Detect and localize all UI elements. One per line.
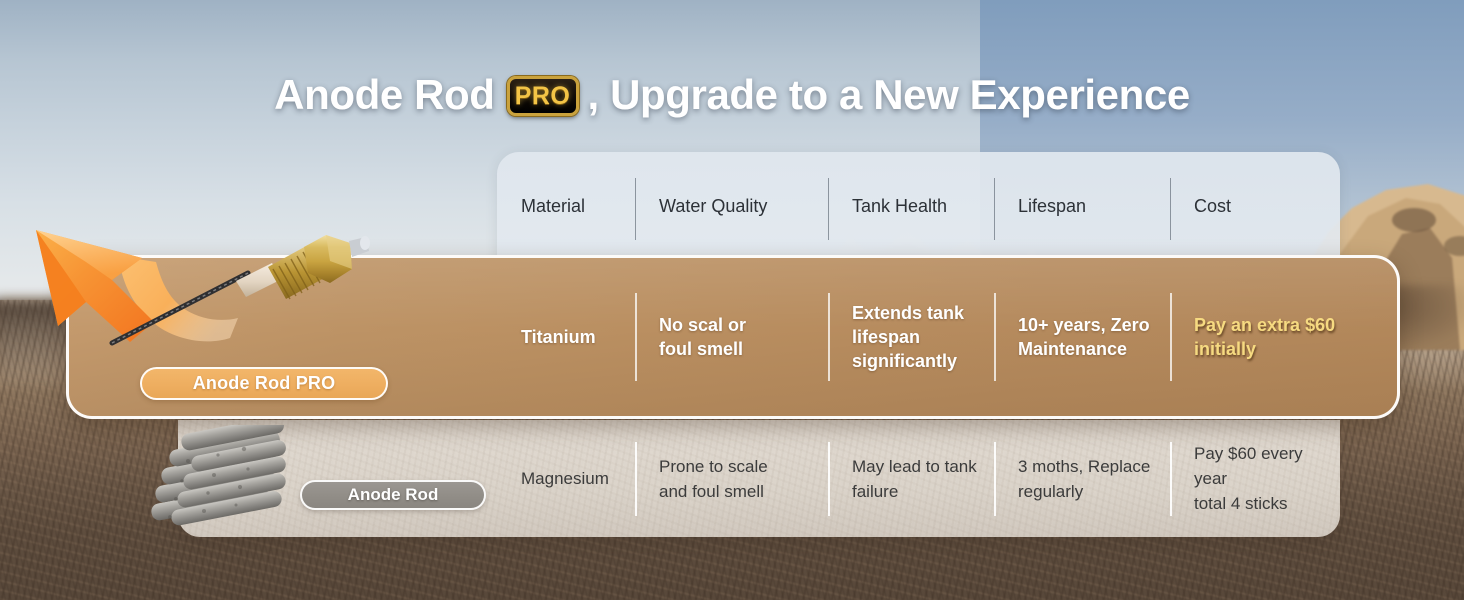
standard-cell-text: Prone to scale and foul smell: [659, 454, 768, 504]
pro-row: Titanium No scal or foul smell Extends t…: [497, 255, 1400, 419]
pro-product-pill: Anode Rod PRO: [140, 367, 388, 400]
standard-cell-tank-health: May lead to tank failure: [828, 420, 994, 537]
pro-cell-water-quality: No scal or foul smell: [635, 255, 828, 419]
standard-cell-water-quality: Prone to scale and foul smell: [635, 420, 828, 537]
titanium-anode-rod-image: [60, 215, 370, 375]
banner-title: Anode Rod PRO , Upgrade to a New Experie…: [0, 68, 1464, 122]
pro-cell-text: 10+ years, Zero Maintenance: [1018, 313, 1150, 361]
pro-cell-material: Titanium: [497, 255, 635, 419]
standard-cell-lifespan: 3 moths, Replace regularly: [994, 420, 1170, 537]
header-cell-material: Material: [497, 152, 635, 260]
title-text-before: Anode Rod: [274, 68, 494, 122]
pro-product-pill-label: Anode Rod PRO: [193, 373, 336, 394]
standard-product-pill: Anode Rod: [300, 480, 486, 510]
pro-cell-text: Extends tank lifespan significantly: [852, 301, 964, 373]
header-label: Water Quality: [659, 196, 767, 217]
standard-cell-text: Pay $60 every year total 4 sticks: [1194, 441, 1330, 516]
standard-row: Magnesium Prone to scale and foul smell …: [497, 420, 1340, 537]
pro-cell-text: No scal or foul smell: [659, 313, 746, 361]
table-header-row: Material Water Quality Tank Health Lifes…: [497, 152, 1340, 260]
promo-banner: Anode Rod PRO , Upgrade to a New Experie…: [0, 0, 1464, 600]
header-label: Lifespan: [1018, 196, 1086, 217]
header-cell-lifespan: Lifespan: [994, 152, 1170, 260]
standard-cell-text: 3 moths, Replace regularly: [1018, 454, 1150, 504]
pro-cell-tank-health: Extends tank lifespan significantly: [828, 255, 994, 419]
header-cell-water-quality: Water Quality: [635, 152, 828, 260]
standard-cell-text: Magnesium: [521, 466, 609, 491]
magnesium-anode-rods-image: [148, 425, 308, 530]
standard-cell-cost: Pay $60 every year total 4 sticks: [1170, 420, 1340, 537]
pro-cell-text: Titanium: [521, 325, 596, 349]
header-cell-cost: Cost: [1170, 152, 1340, 260]
title-text-after: , Upgrade to a New Experience: [588, 68, 1190, 122]
header-label: Material: [521, 196, 585, 217]
standard-product-pill-label: Anode Rod: [348, 485, 439, 505]
standard-cell-text: May lead to tank failure: [852, 454, 977, 504]
header-label: Cost: [1194, 196, 1231, 217]
pro-cell-text: Pay an extra $60 initially: [1194, 313, 1335, 361]
header-label: Tank Health: [852, 196, 947, 217]
pro-badge: PRO: [507, 76, 579, 116]
header-cell-tank-health: Tank Health: [828, 152, 994, 260]
pro-cell-lifespan: 10+ years, Zero Maintenance: [994, 255, 1170, 419]
standard-cell-material: Magnesium: [497, 420, 635, 537]
pro-cell-cost: Pay an extra $60 initially: [1170, 255, 1400, 419]
